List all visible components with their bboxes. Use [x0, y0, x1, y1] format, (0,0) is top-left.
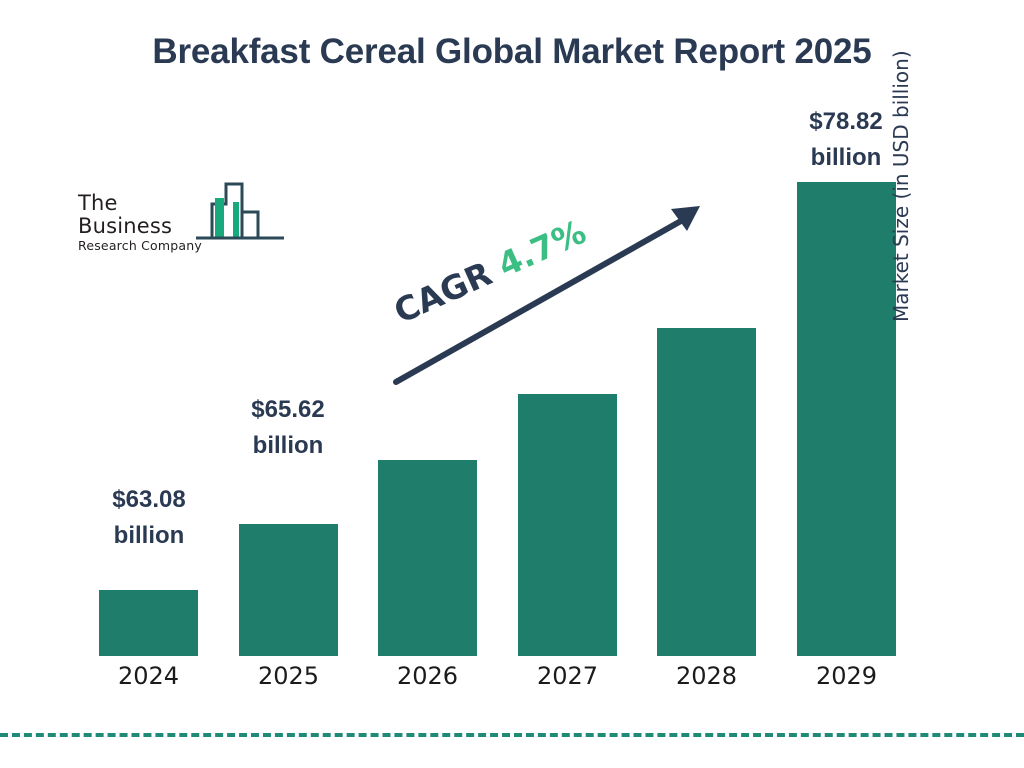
value-label-2025: $65.62 billion — [213, 392, 363, 464]
value-label-2024-unit: billion — [74, 518, 224, 554]
x-tick-2026: 2026 — [378, 662, 477, 690]
cagr-label: CAGR — [388, 254, 497, 331]
bar-2028[interactable] — [657, 328, 756, 656]
value-label-2024: $63.08 billion — [74, 482, 224, 554]
bar-2024[interactable] — [99, 590, 198, 656]
x-tick-2024: 2024 — [99, 662, 198, 690]
bar-2027[interactable] — [518, 394, 617, 656]
x-tick-2025: 2025 — [239, 662, 338, 690]
value-label-2025-unit: billion — [213, 428, 363, 464]
cagr-value: 4.7% — [492, 212, 591, 285]
bar-2029[interactable] — [797, 182, 896, 656]
y-axis-label: Market Size (in USD billion) — [889, 0, 913, 322]
chart-canvas: Breakfast Cereal Global Market Report 20… — [0, 0, 1024, 768]
value-label-2024-amount: $63.08 — [74, 482, 224, 518]
bar-chart: $63.08 billion $65.62 billion $78.82 bil… — [0, 0, 1024, 768]
bar-2026[interactable] — [378, 460, 477, 656]
cagr-annotation: CAGR 4.7% — [388, 212, 591, 331]
bar-2025[interactable] — [239, 524, 338, 656]
footer-divider — [0, 733, 1024, 737]
value-label-2025-amount: $65.62 — [213, 392, 363, 428]
x-tick-2027: 2027 — [518, 662, 617, 690]
x-tick-2029: 2029 — [797, 662, 896, 690]
x-tick-2028: 2028 — [657, 662, 756, 690]
